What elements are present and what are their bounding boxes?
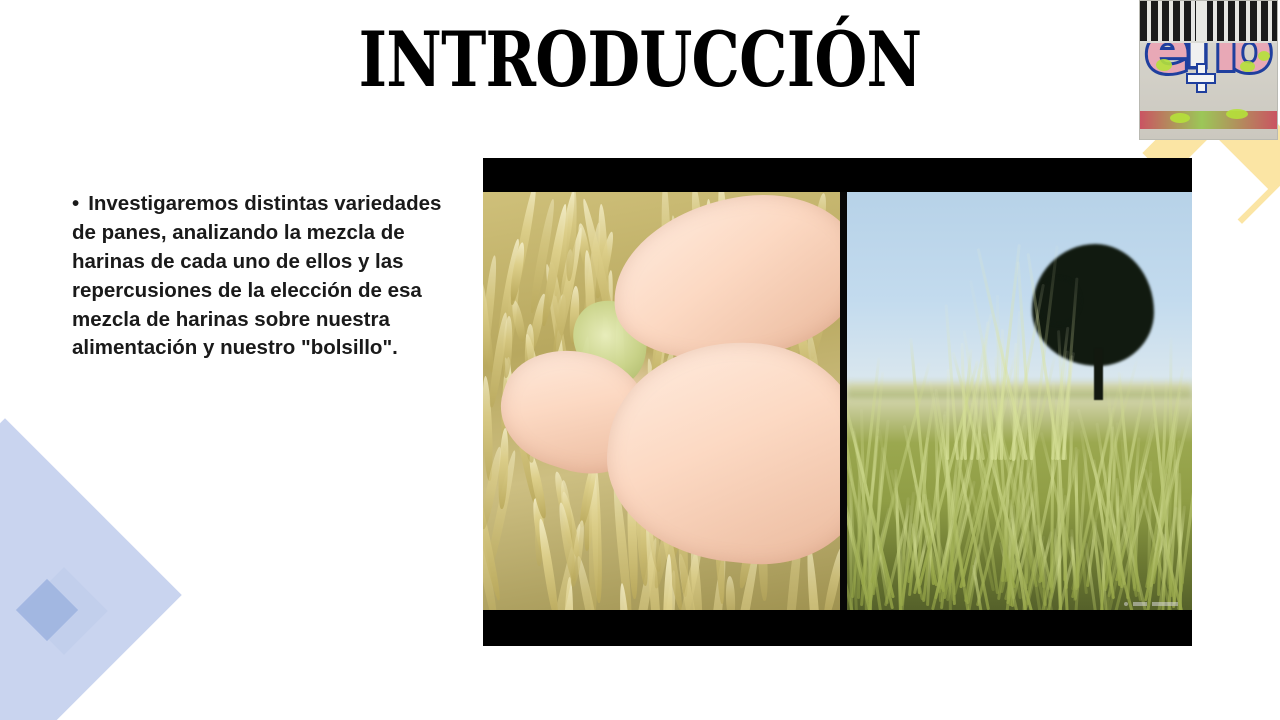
logo-fence-bars: [1140, 1, 1277, 43]
decorative-diamond-medium: [20, 567, 108, 655]
graffiti-accent-4: [1226, 109, 1248, 119]
graffiti-cross-icon: [1186, 63, 1216, 93]
body-paragraph: •Investigaremos distintas variedades de …: [72, 190, 464, 363]
presentation-slide: INTRODUCCIÓN •Investigaremos distintas v…: [0, 0, 1280, 720]
watermark-bar-short: [1133, 602, 1147, 606]
page-title: INTRODUCCIÓN: [128, 22, 1152, 98]
video-player-watermark: [1124, 602, 1178, 606]
wheat-stalk: [821, 546, 840, 610]
barley-spikes-group: [847, 350, 1192, 610]
video-frame-content: [483, 192, 1192, 610]
video-letterbox-top: [483, 158, 1192, 192]
video-letterbox-bottom: [483, 610, 1192, 646]
logo-color-band-bottom: [1140, 111, 1277, 129]
embedded-video-player[interactable]: [483, 158, 1192, 646]
graffiti-accent-3: [1170, 113, 1190, 123]
logo-fence-post: [1196, 1, 1207, 41]
graffiti-accent-5: [1258, 51, 1270, 61]
wheat-stalk: [725, 576, 736, 610]
graffiti-accent-1: [1156, 59, 1172, 71]
watermark-bar-long: [1152, 602, 1178, 606]
photo-hands-wheat: [483, 192, 840, 610]
photo-divider: [840, 192, 847, 610]
graffiti-accent-2: [1240, 61, 1255, 72]
bullet-icon: •: [72, 192, 79, 215]
barley-spike-tall: [946, 369, 950, 460]
photo-barley-field: [847, 192, 1192, 610]
graffiti-logo: e o T I: [1139, 0, 1278, 140]
watermark-dot: [1124, 602, 1128, 606]
body-paragraph-text: Investigaremos distintas variedades de p…: [72, 192, 441, 359]
decorative-diamond-large: [0, 418, 182, 720]
decorative-diamond-small: [16, 579, 78, 641]
